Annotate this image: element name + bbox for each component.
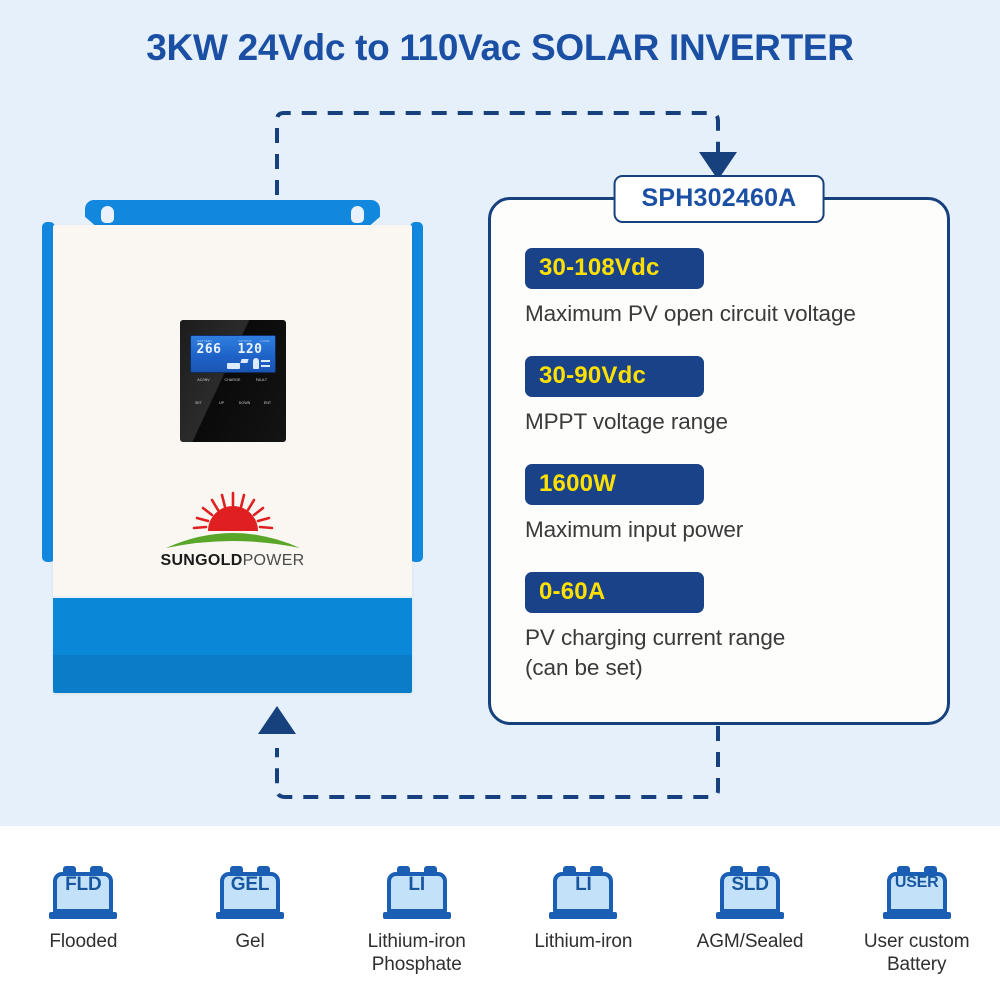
battery-code-label: LI [549, 874, 617, 896]
inverter-lower-housing [53, 596, 412, 693]
lcd-bar-icon-bottom [261, 365, 270, 367]
battery-type-lithium-iron: LI Lithium-iron [500, 866, 667, 976]
button-up[interactable]: UP [210, 401, 234, 406]
led-fault-label: FAULT [247, 378, 277, 383]
battery-type-gel: GEL Gel [167, 866, 334, 976]
specification-list: 30-108Vdc Maximum PV open circuit voltag… [525, 248, 923, 683]
brand-logo: SUNGOLDPOWER [158, 490, 308, 570]
button-set[interactable]: SET [187, 401, 211, 406]
model-number-badge: SPH302460A [614, 175, 825, 223]
battery-icon: LI [549, 866, 617, 924]
battery-type-label: Gel [167, 930, 334, 953]
battery-base [549, 912, 617, 919]
button-ent-label: ENT [256, 401, 280, 406]
battery-icon: SLD [716, 866, 784, 924]
wall-mount-bracket [85, 200, 380, 227]
battery-type-agm-sealed: SLD AGM/Sealed [667, 866, 834, 976]
led-charge: CHARGE [218, 378, 248, 383]
led-charge-label: CHARGE [218, 378, 248, 383]
spec-value-badge: 0-60A [525, 572, 704, 613]
battery-type-flooded: FLD Flooded [0, 866, 167, 976]
battery-code-label: LI [383, 874, 451, 896]
lcd-battery-icon [227, 363, 240, 369]
lcd-battery-value: 266 [197, 342, 222, 357]
battery-icon: USER [883, 866, 951, 924]
brand-name-light: POWER [243, 552, 305, 569]
keypad-row: SET UP DOWN ENT [187, 401, 279, 431]
mount-keyhole-left [101, 206, 114, 223]
specifications-panel: SPH302460A 30-108Vdc Maximum PV open cir… [488, 197, 950, 725]
solar-inverter-device: BATTERY OUTPUT LOAD 266 120 AC/INV [40, 200, 425, 700]
brand-name-bold: SUNGOLD [160, 552, 242, 569]
led-ac-inv-label: AC/INV [189, 378, 219, 383]
lcd-load-icon [253, 358, 259, 369]
battery-icon: GEL [216, 866, 284, 924]
lcd-display: BATTERY OUTPUT LOAD 266 120 [190, 335, 276, 373]
sun-over-hill-icon [158, 490, 308, 552]
battery-type-label: User custom Battery [833, 930, 1000, 976]
battery-type-label: Lithium-iron Phosphate [333, 930, 500, 976]
inverter-chassis: BATTERY OUTPUT LOAD 266 120 AC/INV [53, 225, 412, 693]
supported-battery-types: FLD Flooded GEL Gel LI Lithi [0, 866, 1000, 976]
spec-description: Maximum PV open circuit voltage [525, 299, 923, 329]
spec-value-badge: 1600W [525, 464, 704, 505]
brand-wordmark: SUNGOLDPOWER [158, 552, 308, 570]
control-panel-module: BATTERY OUTPUT LOAD 266 120 AC/INV [180, 320, 286, 442]
lcd-bar-icon-top [261, 360, 270, 362]
button-up-label: UP [210, 401, 234, 406]
status-led-row: AC/INV CHARGE FAULT [189, 378, 277, 396]
spec-value-badge: 30-108Vdc [525, 248, 704, 289]
spec-row-maximum-input-power: 1600W Maximum input power [525, 464, 923, 545]
spec-description: PV charging current range (can be set) [525, 623, 923, 683]
button-down-label: DOWN [233, 401, 257, 406]
battery-base [716, 912, 784, 919]
battery-base [216, 912, 284, 919]
spec-value-badge: 30-90Vdc [525, 356, 704, 397]
battery-type-label: AGM/Sealed [667, 930, 834, 953]
battery-type-lithium-iron-phosphate: LI Lithium-iron Phosphate [333, 866, 500, 976]
battery-base [49, 912, 117, 919]
led-fault: FAULT [247, 378, 277, 383]
led-ac-inv: AC/INV [189, 378, 219, 383]
page-title: 3KW 24Vdc to 110Vac SOLAR INVERTER [0, 27, 1000, 69]
button-down[interactable]: DOWN [233, 401, 257, 406]
battery-type-label: Flooded [0, 930, 167, 953]
spec-description: Maximum input power [525, 515, 923, 545]
battery-code-label: USER [883, 874, 951, 892]
spec-row-pv-charging-current-range: 0-60A PV charging current range (can be … [525, 572, 923, 683]
lcd-output-value: 120 [238, 342, 263, 357]
spec-description: MPPT voltage range [525, 407, 923, 437]
battery-base [883, 912, 951, 919]
battery-code-label: GEL [216, 874, 284, 896]
spec-row-mppt-voltage-range: 30-90Vdc MPPT voltage range [525, 356, 923, 437]
battery-code-label: FLD [49, 874, 117, 896]
battery-icon: LI [383, 866, 451, 924]
battery-type-user-custom: USER User custom Battery [833, 866, 1000, 976]
infographic-canvas: 3KW 24Vdc to 110Vac SOLAR INVERTER BATTE… [0, 0, 1000, 1000]
spec-row-pv-open-circuit-voltage: 30-108Vdc Maximum PV open circuit voltag… [525, 248, 923, 329]
button-ent[interactable]: ENT [256, 401, 280, 406]
battery-base [383, 912, 451, 919]
battery-type-label: Lithium-iron [500, 930, 667, 953]
mount-keyhole-right [351, 206, 364, 223]
button-set-label: SET [187, 401, 211, 406]
battery-code-label: SLD [716, 874, 784, 896]
lcd-flow-arrow-icon [240, 359, 248, 363]
battery-icon: FLD [49, 866, 117, 924]
